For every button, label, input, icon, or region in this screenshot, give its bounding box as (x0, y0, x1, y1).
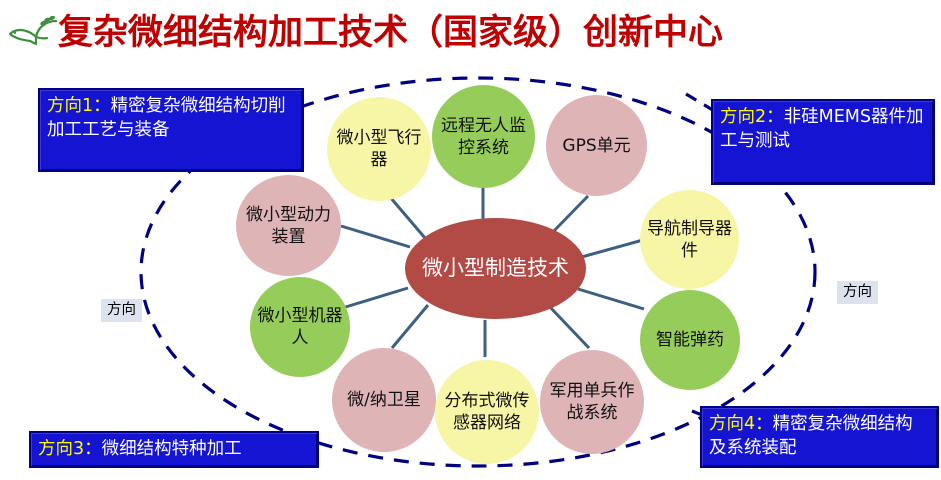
direction-box-4-key: 方向4： (709, 414, 773, 434)
center-node-label: 微小型制造技术 (422, 254, 569, 283)
direction-tag-left[interactable]: 方向 (101, 299, 142, 322)
bubble-node[interactable]: 微小型动力装置 (236, 175, 341, 276)
connector-line (341, 226, 410, 247)
bubble-label: 分布式微传感器网络 (435, 390, 539, 434)
slide-canvas: 复杂微细结构加工技术（国家级）创新中心 微小型飞行器 远程无人监控系统 (0, 0, 941, 480)
direction-box-1[interactable]: 方向1：精密复杂微细结构切削加工工艺与装备 (38, 88, 304, 172)
bubble-node[interactable]: GPS单元 (546, 95, 647, 196)
direction-tag-right[interactable]: 方向 (837, 281, 878, 304)
bubble-node[interactable]: 分布式微传感器网络 (435, 360, 539, 464)
connector-line (578, 240, 643, 258)
connector-line (392, 305, 428, 348)
direction-box-2-key: 方向2： (720, 107, 784, 127)
connector-line (390, 197, 425, 238)
direction-box-1-key: 方向1： (47, 96, 111, 116)
bubble-label: 微小型动力装置 (236, 204, 341, 248)
bubble-label: 智能弹药 (652, 329, 728, 351)
bubble-node[interactable]: 远程无人监控系统 (432, 85, 535, 188)
direction-box-3-key: 方向3： (38, 439, 102, 459)
bubble-node[interactable]: 微小型机器人 (250, 277, 350, 377)
bubble-label: 微小型飞行器 (327, 127, 431, 171)
bubble-node[interactable]: 军用单兵作战系统 (540, 350, 644, 454)
direction-box-2[interactable]: 方向2：非硅MEMS器件加工与测试 (711, 99, 935, 185)
bubble-label: GPS单元 (558, 135, 634, 157)
bubble-label: 导航制导器件 (640, 218, 739, 262)
center-node[interactable]: 微小型制造技术 (405, 218, 586, 319)
bubble-label: 远程无人监控系统 (432, 115, 535, 159)
direction-box-3-label: 微细结构特种加工 (102, 439, 242, 459)
bubble-node[interactable]: 导航制导器件 (640, 190, 739, 289)
direction-box-4[interactable]: 方向4：精密复杂微细结构及系统装配 (700, 406, 939, 468)
bubble-node[interactable]: 微/纳卫星 (332, 348, 436, 452)
direction-box-3[interactable]: 方向3：微细结构特种加工 (29, 431, 319, 468)
bubble-node[interactable]: 微小型飞行器 (327, 97, 431, 201)
connector-line (578, 289, 644, 309)
bubble-label: 微小型机器人 (250, 305, 350, 349)
connector-line (549, 306, 589, 348)
bubble-node[interactable]: 智能弹药 (640, 290, 740, 390)
bubble-label: 军用单兵作战系统 (540, 380, 644, 424)
bubble-label: 微/纳卫星 (343, 389, 425, 411)
